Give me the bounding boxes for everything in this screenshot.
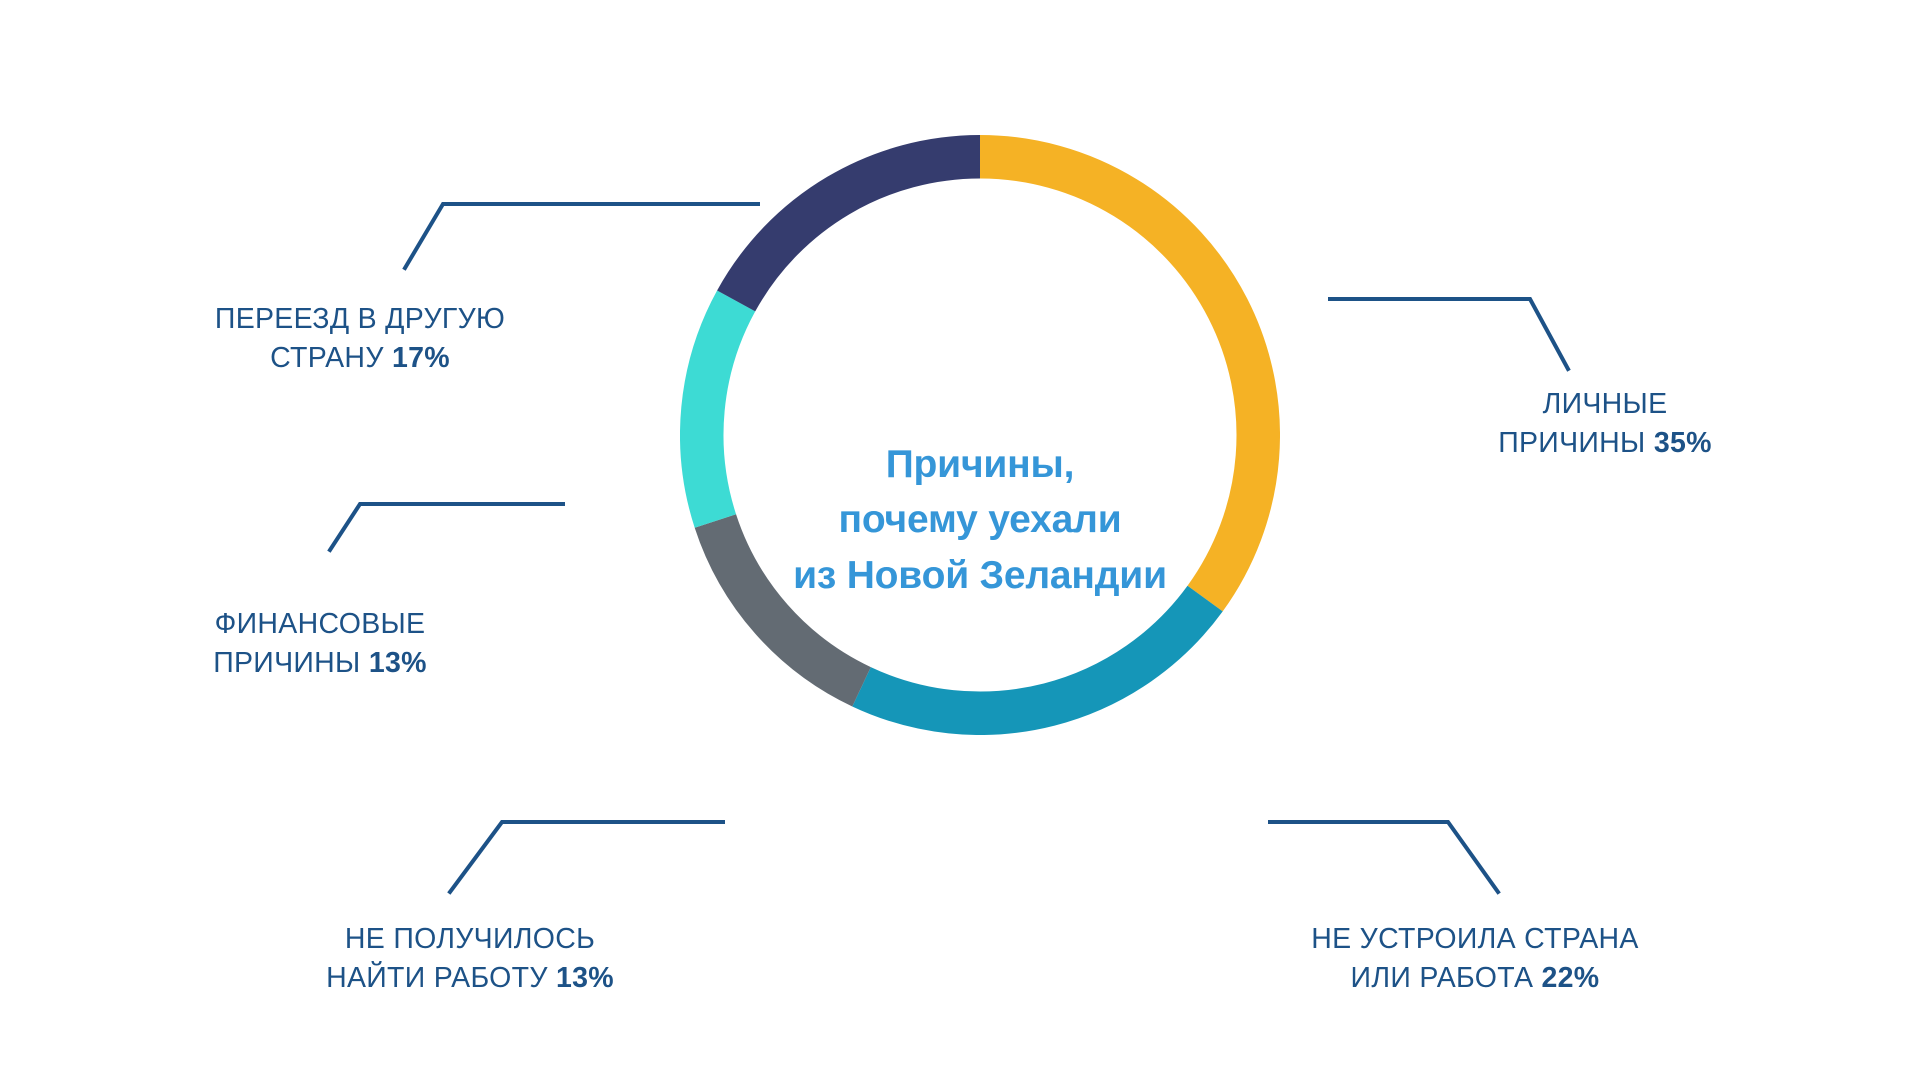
callout-text: СТРАНУ <box>270 342 384 374</box>
callout-line-2: НАЙТИ РАБОТУ 13% <box>245 959 695 998</box>
leader-line-relocation <box>405 200 760 275</box>
leader-line-no-job <box>450 818 725 898</box>
callout-line-2: ПРИЧИНЫ 35% <box>1410 424 1800 463</box>
callout-label-no-job: НЕ ПОЛУЧИЛОСЬ НАЙТИ РАБОТУ 13% <box>245 920 695 998</box>
callout-line-1: ФИНАНСОВЫЕ <box>110 605 530 644</box>
callout-line-1: НЕ УСТРОИЛА СТРАНА <box>1240 920 1710 959</box>
callout-label-relocation: ПЕРЕЕЗД В ДРУГУЮ СТРАНУ 17% <box>130 300 590 378</box>
callout-text: ИЛИ РАБОТА <box>1351 962 1534 994</box>
callout-line-2: СТРАНУ 17% <box>130 339 590 378</box>
donut-slice <box>736 157 980 301</box>
donut-slice <box>862 599 1206 714</box>
leader-line-personal <box>1330 295 1570 375</box>
callout-label-country-job: НЕ УСТРОИЛА СТРАНА ИЛИ РАБОТА 22% <box>1240 920 1710 998</box>
callout-line-1: ЛИЧНЫЕ <box>1410 385 1800 424</box>
callout-percent: 17% <box>392 342 450 374</box>
donut-slice <box>702 301 736 521</box>
callout-percent: 35% <box>1654 427 1712 459</box>
donut-slice-group <box>702 157 1258 714</box>
callout-percent: 13% <box>369 647 427 679</box>
callout-label-financial: ФИНАНСОВЫЕ ПРИЧИНЫ 13% <box>110 605 530 683</box>
callout-label-personal: ЛИЧНЫЕ ПРИЧИНЫ 35% <box>1410 385 1800 463</box>
leader-line-financial <box>330 500 565 555</box>
callout-percent: 22% <box>1542 962 1600 994</box>
callout-text: ПРИЧИНЫ <box>213 647 360 679</box>
callout-line-2: ИЛИ РАБОТА 22% <box>1240 959 1710 998</box>
callout-text: ПРИЧИНЫ <box>1498 427 1645 459</box>
donut-chart <box>680 135 1280 735</box>
callout-text: НАЙТИ РАБОТУ <box>326 962 548 994</box>
donut-chart-svg <box>680 135 1280 735</box>
callout-percent: 13% <box>556 962 614 994</box>
chart-center-title: Причины, почему уехали из Новой Зеландии <box>740 437 1220 603</box>
callout-line-1: ПЕРЕЕЗД В ДРУГУЮ <box>130 300 590 339</box>
infographic-canvas: Причины, почему уехали из Новой Зеландии… <box>0 0 1920 1080</box>
callout-line-1: НЕ ПОЛУЧИЛОСЬ <box>245 920 695 959</box>
leader-line-country-job <box>1270 818 1500 898</box>
callout-line-2: ПРИЧИНЫ 13% <box>110 644 530 683</box>
